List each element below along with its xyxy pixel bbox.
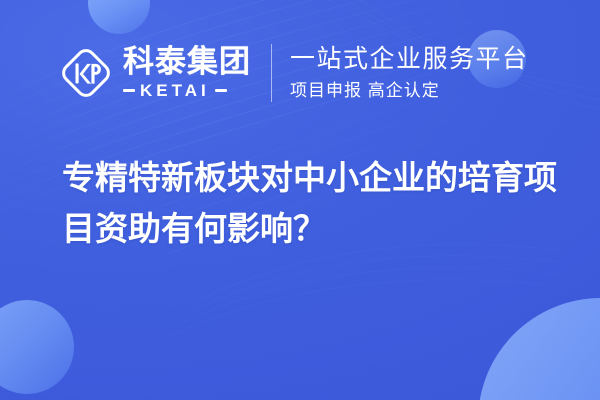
brand-logo[interactable]: 科泰集团 KETAI <box>58 45 251 101</box>
brand-name-cn: 科泰集团 <box>123 46 251 77</box>
brand-dash-right-icon <box>215 89 227 92</box>
brand-wordmark: 科泰集团 KETAI <box>123 46 251 99</box>
promo-banner: 科泰集团 KETAI 一站式企业服务平台 项目申报 高企认定 专精特新板块对中小… <box>0 0 600 400</box>
banner-header: 科泰集团 KETAI 一站式企业服务平台 项目申报 高企认定 <box>0 0 600 145</box>
header-divider <box>271 44 272 102</box>
slogan-sub-text: 项目申报 高企认定 <box>290 81 529 101</box>
brand-dash-left-icon <box>123 89 135 92</box>
brand-name-en-row: KETAI <box>123 82 251 99</box>
headline-title: 专精特新板块对中小企业的培育项目资助有何影响？ <box>62 152 582 254</box>
brand-name-en: KETAI <box>140 82 210 99</box>
header-slogan: 一站式企业服务平台 项目申报 高企认定 <box>290 45 529 100</box>
ketai-diamond-monogram-icon <box>58 45 114 101</box>
slogan-main-text: 一站式企业服务平台 <box>290 45 529 74</box>
